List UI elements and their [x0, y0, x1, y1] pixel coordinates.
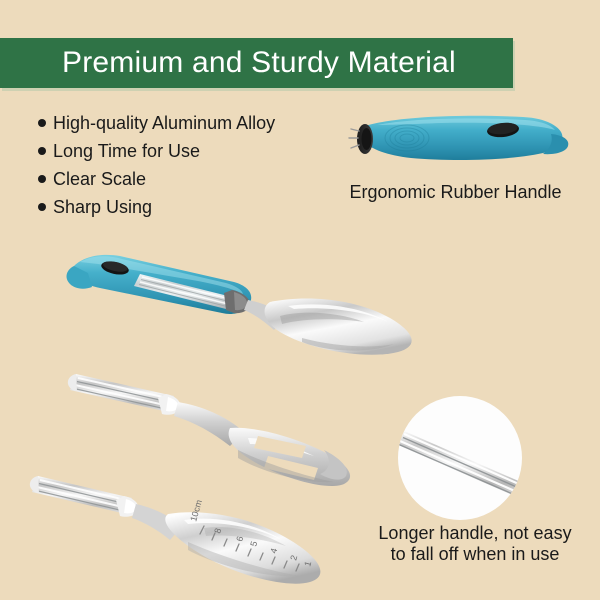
ribbed-shaft [68, 374, 174, 412]
feature-label: High-quality Aluminum Alloy [53, 113, 275, 134]
list-item: Long Time for Use [38, 138, 338, 164]
trowel-image [58, 246, 428, 356]
list-item: Sharp Using [38, 194, 338, 220]
detail-circle-caption: Longer handle, not easy to fall off when… [355, 523, 595, 565]
bullet-dot-icon [38, 147, 46, 155]
bullet-dot-icon [38, 119, 46, 127]
list-item: Clear Scale [38, 166, 338, 192]
feature-label: Sharp Using [53, 197, 152, 218]
bullet-dot-icon [38, 203, 46, 211]
detail-circle-callout [398, 396, 578, 520]
rubber-handle-caption: Ergonomic Rubber Handle [331, 182, 581, 203]
page-title: Premium and Sturdy Material [0, 38, 513, 88]
feature-label: Long Time for Use [53, 141, 200, 162]
infographic-canvas: Premium and Sturdy Material High-quality… [0, 0, 600, 600]
rubber-handle-image [337, 108, 577, 178]
bullet-dot-icon [38, 175, 46, 183]
feature-label: Clear Scale [53, 169, 146, 190]
list-item: High-quality Aluminum Alloy [38, 110, 338, 136]
feature-list: High-quality Aluminum Alloy Long Time fo… [38, 110, 338, 222]
ribbed-shaft [30, 476, 132, 514]
transplanter-image: 10cm 8 6 5 4 2 1 [28, 462, 358, 592]
title-banner: Premium and Sturdy Material [0, 38, 513, 88]
